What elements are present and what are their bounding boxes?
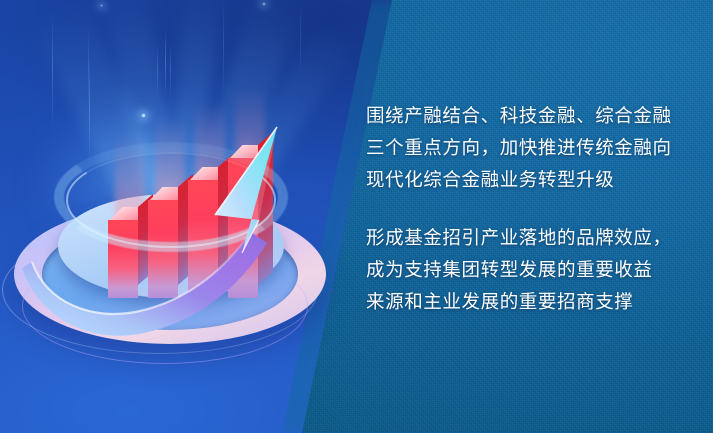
arrow-ribbon: [22, 232, 267, 336]
banner-stage: 围绕产融结合、科技金融、综合金融 三个重点方向，加快推进传统金融向 现代化综合金…: [0, 0, 713, 433]
paragraph-2-line-1: 形成基金招引产业落地的品牌效应，: [366, 222, 696, 254]
growth-arrow: [8, 108, 338, 368]
paragraph-1-line-1: 围绕产融结合、科技金融、综合金融: [366, 100, 696, 132]
growth-arrow-svg: [8, 108, 338, 368]
paragraph-2-line-2: 成为支持集团转型发展的重要收益: [366, 254, 696, 286]
paragraph-2-line-3: 来源和主业发展的重要招商支撑: [366, 286, 696, 318]
copy-block: 围绕产融结合、科技金融、综合金融 三个重点方向，加快推进传统金融向 现代化综合金…: [366, 100, 696, 318]
paragraph-2: 形成基金招引产业落地的品牌效应， 成为支持集团转型发展的重要收益 来源和主业发展…: [366, 222, 696, 318]
growth-chart-illustration: [8, 108, 338, 368]
paragraph-1-line-3: 现代化综合金融业务转型升级: [366, 164, 696, 196]
paragraph-1-line-2: 三个重点方向，加快推进传统金融向: [366, 132, 696, 164]
paragraph-1: 围绕产融结合、科技金融、综合金融 三个重点方向，加快推进传统金融向 现代化综合金…: [366, 100, 696, 196]
